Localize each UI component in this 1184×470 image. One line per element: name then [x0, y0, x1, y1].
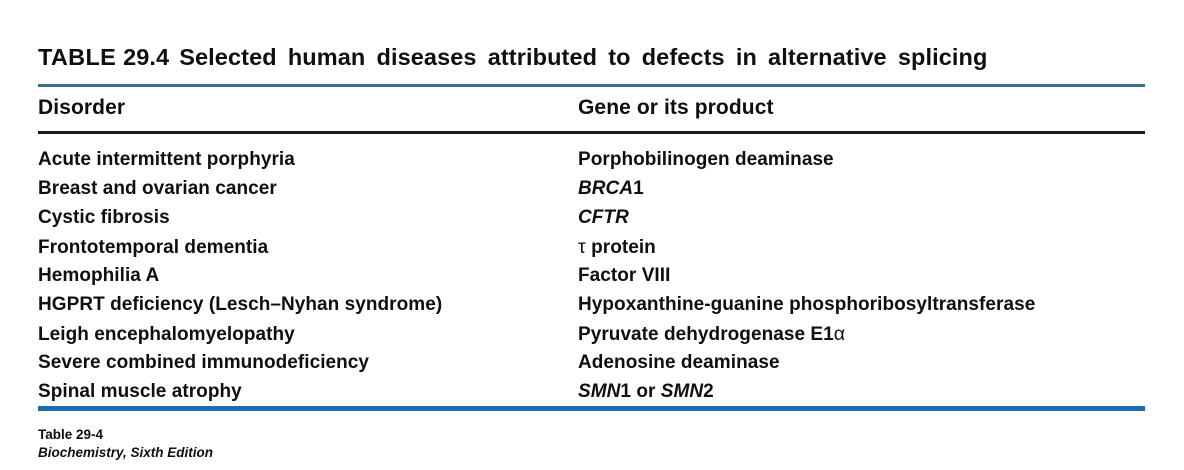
cell-disorder: Spinal muscle atrophy [38, 380, 578, 404]
cell-gene: Porphobilinogen deaminase [578, 148, 1148, 172]
table-body: Acute intermittent porphyria Porphobilin… [38, 131, 1148, 409]
caption-source: Biochemistry, Sixth Edition [38, 444, 213, 462]
table-row: Cystic fibrosis CFTR [38, 206, 1148, 235]
cell-disorder: HGPRT deficiency (Lesch–Nyhan syndrome) [38, 293, 578, 317]
gene-symbol: SMN [578, 381, 620, 402]
cell-gene: Pyruvate dehydrogenase E1α [578, 322, 1148, 347]
cell-disorder: Cystic fibrosis [38, 206, 578, 230]
table-row: Frontotemporal dementia τ protein [38, 235, 1148, 264]
table-title: TABLE29.4Selected human diseases attribu… [38, 42, 1148, 72]
cell-disorder: Breast and ovarian cancer [38, 177, 578, 201]
column-header-gene: Gene or its product [578, 92, 1148, 121]
gene-symbol: SMN [661, 381, 703, 402]
table-top-rule [38, 84, 1145, 87]
table-row: Hemophilia A Factor VIII [38, 264, 1148, 293]
table-row: HGPRT deficiency (Lesch–Nyhan syndrome) … [38, 293, 1148, 322]
table-row: Spinal muscle atrophy SMN1 or SMN2 [38, 380, 1148, 409]
table-header-row: Disorder Gene or its product [38, 92, 1148, 131]
gene-suffix: 2 [703, 381, 714, 402]
cell-gene: Hypoxanthine-guanine phosphoribosyltrans… [578, 293, 1148, 317]
gene-symbol: BRCA [578, 178, 633, 199]
cell-gene: BRCA1 [578, 177, 1148, 201]
cell-gene: Adenosine deaminase [578, 351, 1148, 375]
table-figure: TABLE29.4Selected human diseases attribu… [0, 0, 1184, 470]
table-grid: Disorder Gene or its product Acute inter… [38, 92, 1148, 409]
table-label: TABLE [38, 44, 116, 70]
table-row: Severe combined immunodeficiency Adenosi… [38, 351, 1148, 380]
cell-disorder: Frontotemporal dementia [38, 236, 578, 260]
gene-symbol: CFTR [578, 207, 629, 228]
table-row: Leigh encephalomyelopathy Pyruvate dehyd… [38, 322, 1148, 351]
table-row: Breast and ovarian cancer BRCA1 [38, 177, 1148, 206]
cell-gene: CFTR [578, 206, 1148, 230]
table-number: 29.4 [123, 44, 169, 70]
gene-prefix: Pyruvate dehydrogenase E1 [578, 324, 834, 345]
cell-disorder: Hemophilia A [38, 264, 578, 288]
table-row: Acute intermittent porphyria Porphobilin… [38, 148, 1148, 177]
gene-conjunction: or [631, 381, 661, 402]
cell-disorder: Leigh encephalomyelopathy [38, 323, 578, 347]
gene-suffix: 1 [633, 178, 644, 199]
cell-disorder: Severe combined immunodeficiency [38, 351, 578, 375]
cell-disorder: Acute intermittent porphyria [38, 148, 578, 172]
cell-gene: SMN1 or SMN2 [578, 380, 1148, 404]
greek-alpha-symbol: α [834, 323, 845, 345]
cell-gene: Factor VIII [578, 264, 1148, 288]
gene-suffix: 1 [620, 381, 631, 402]
gene-suffix: protein [586, 237, 656, 258]
column-header-disorder: Disorder [38, 92, 578, 121]
cell-gene: τ protein [578, 235, 1148, 260]
caption-table-id: Table 29-4 [38, 426, 213, 444]
greek-tau-symbol: τ [578, 236, 586, 258]
figure-caption: Table 29-4 Biochemistry, Sixth Edition [38, 426, 213, 462]
table-title-text: Selected human diseases attributed to de… [179, 44, 987, 70]
